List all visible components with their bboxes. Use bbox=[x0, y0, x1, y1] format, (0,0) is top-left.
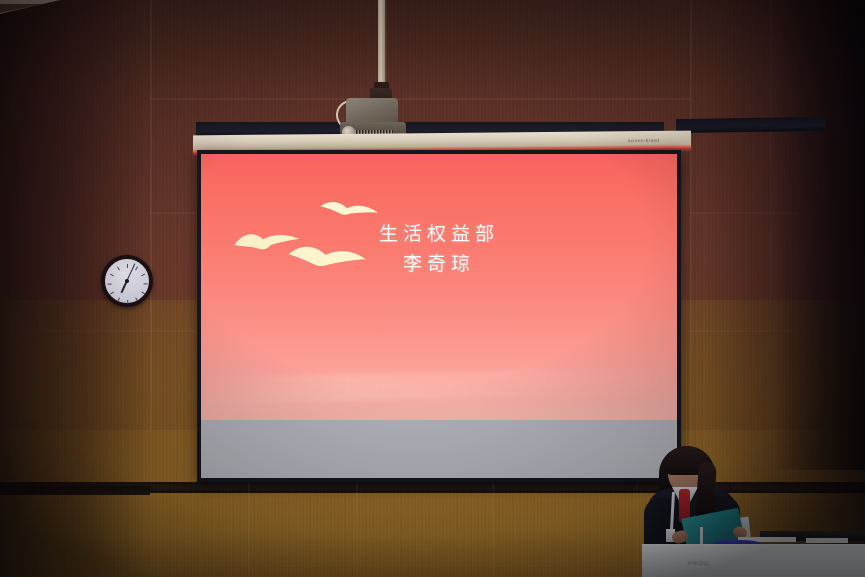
image-vignette bbox=[0, 0, 865, 577]
lecture-hall-screenshot: screen-brand 生活权益部 bbox=[0, 0, 865, 577]
